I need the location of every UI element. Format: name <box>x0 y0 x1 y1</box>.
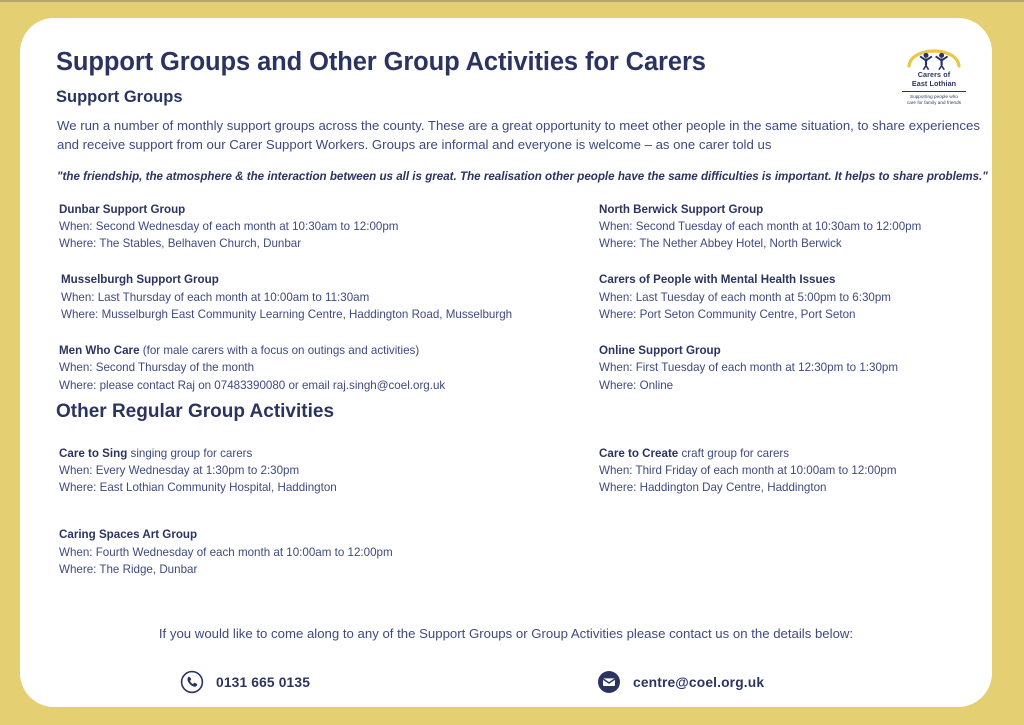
logo-mark-icon <box>903 40 965 70</box>
other-activities-column-left: Care to Sing singing group for carers Wh… <box>59 445 589 597</box>
activity-item: Care to Sing singing group for carers Wh… <box>59 445 589 497</box>
activity-item: Caring Spaces Art Group When: Fourth Wed… <box>59 526 589 578</box>
section-heading-support-groups: Support Groups <box>56 88 973 107</box>
group-name-note: (for male carers with a focus on outings… <box>140 344 420 357</box>
support-groups-column-right: North Berwick Support Group When: Second… <box>599 201 979 413</box>
group-name: Musselburgh Support Group <box>61 271 589 288</box>
page-title: Support Groups and Other Group Activitie… <box>56 48 973 77</box>
carer-quote: "the friendship, the atmosphere & the in… <box>57 168 1003 185</box>
support-groups-column-left: Dunbar Support Group When: Second Wednes… <box>59 201 589 413</box>
group-where: Where: The Stables, Belhaven Church, Dun… <box>59 235 589 252</box>
contact-email[interactable]: centre@coel.org.uk <box>597 670 764 694</box>
activity-name-note: singing group for carers <box>127 447 252 460</box>
group-item: Men Who Care (for male carers with a foc… <box>59 342 589 394</box>
group-where: Where: please contact Raj on 07483390080… <box>59 377 589 394</box>
activity-name: Care to Sing singing group for carers <box>59 445 589 462</box>
activity-name-note: craft group for carers <box>678 447 789 460</box>
logo-name: Carers of East Lothian <box>899 71 969 89</box>
group-where: Where: The Nether Abbey Hotel, North Ber… <box>599 235 979 252</box>
group-where: Where: Musselburgh East Community Learni… <box>61 306 589 323</box>
section-heading-other-activities: Other Regular Group Activities <box>56 401 973 423</box>
activity-where: Where: The Ridge, Dunbar <box>59 561 589 578</box>
contact-phone[interactable]: 0131 665 0135 <box>180 670 310 694</box>
logo-name-line-2: East Lothian <box>899 80 969 89</box>
group-name: Online Support Group <box>599 342 979 359</box>
activity-item: Care to Create craft group for carers Wh… <box>599 445 979 497</box>
other-activities-section: Other Regular Group Activities Care to S… <box>39 401 973 585</box>
phone-number: 0131 665 0135 <box>216 675 310 690</box>
frame-top-hairline <box>0 0 1024 2</box>
group-name: Dunbar Support Group <box>59 201 589 218</box>
group-name: North Berwick Support Group <box>599 201 979 218</box>
activity-where: Where: Haddington Day Centre, Haddington <box>599 479 979 496</box>
activity-when: When: Every Wednesday at 1:30pm to 2:30p… <box>59 462 589 479</box>
logo-divider <box>902 91 966 92</box>
group-item: Carers of People with Mental Health Issu… <box>599 271 979 323</box>
other-activities-column-right: Care to Create craft group for carers Wh… <box>599 445 979 516</box>
group-when: When: Last Thursday of each month at 10:… <box>61 289 589 306</box>
contact-details: 0131 665 0135 centre@coel.org.uk <box>39 670 973 702</box>
group-when: When: Second Thursday of the month <box>59 359 589 376</box>
group-item: Online Support Group When: First Tuesday… <box>599 342 979 394</box>
logo-tagline: Supporting people who care for family an… <box>899 94 969 106</box>
group-item: Dunbar Support Group When: Second Wednes… <box>59 201 589 253</box>
group-when: When: Second Wednesday of each month at … <box>59 218 589 235</box>
activity-when: When: Third Friday of each month at 10:0… <box>599 462 979 479</box>
group-where: Where: Online <box>599 377 979 394</box>
group-when: When: Second Tuesday of each month at 10… <box>599 218 979 235</box>
card-inner: Carers of East Lothian Supporting people… <box>39 27 973 699</box>
group-where: Where: Port Seton Community Centre, Port… <box>599 306 979 323</box>
group-when: When: Last Tuesday of each month at 5:00… <box>599 289 979 306</box>
group-item: Musselburgh Support Group When: Last Thu… <box>59 271 589 323</box>
carers-of-east-lothian-logo: Carers of East Lothian Supporting people… <box>899 40 969 106</box>
activity-where: Where: East Lothian Community Hospital, … <box>59 479 589 496</box>
activity-name: Caring Spaces Art Group <box>59 526 589 543</box>
footer-note: If you would like to come along to any o… <box>39 625 973 643</box>
intro-paragraph: We run a number of monthly support group… <box>57 116 995 154</box>
group-item: North Berwick Support Group When: Second… <box>599 201 979 253</box>
support-groups-list: Dunbar Support Group When: Second Wednes… <box>39 201 973 391</box>
activity-name: Care to Create craft group for carers <box>599 445 979 462</box>
activity-when: When: Fourth Wednesday of each month at … <box>59 544 589 561</box>
footer: If you would like to come along to any o… <box>39 625 973 702</box>
envelope-icon <box>597 670 621 694</box>
logo-tagline-line-2: care for family and friends <box>899 100 969 106</box>
group-name: Men Who Care (for male carers with a foc… <box>59 342 589 359</box>
phone-icon <box>180 670 204 694</box>
email-address: centre@coel.org.uk <box>633 675 764 690</box>
group-when: When: First Tuesday of each month at 12:… <box>599 359 979 376</box>
content-card: Carers of East Lothian Supporting people… <box>20 18 992 707</box>
poster-frame: Carers of East Lothian Supporting people… <box>0 0 1024 725</box>
other-activities-list: Care to Sing singing group for carers Wh… <box>39 445 973 585</box>
group-name: Carers of People with Mental Health Issu… <box>599 271 979 288</box>
